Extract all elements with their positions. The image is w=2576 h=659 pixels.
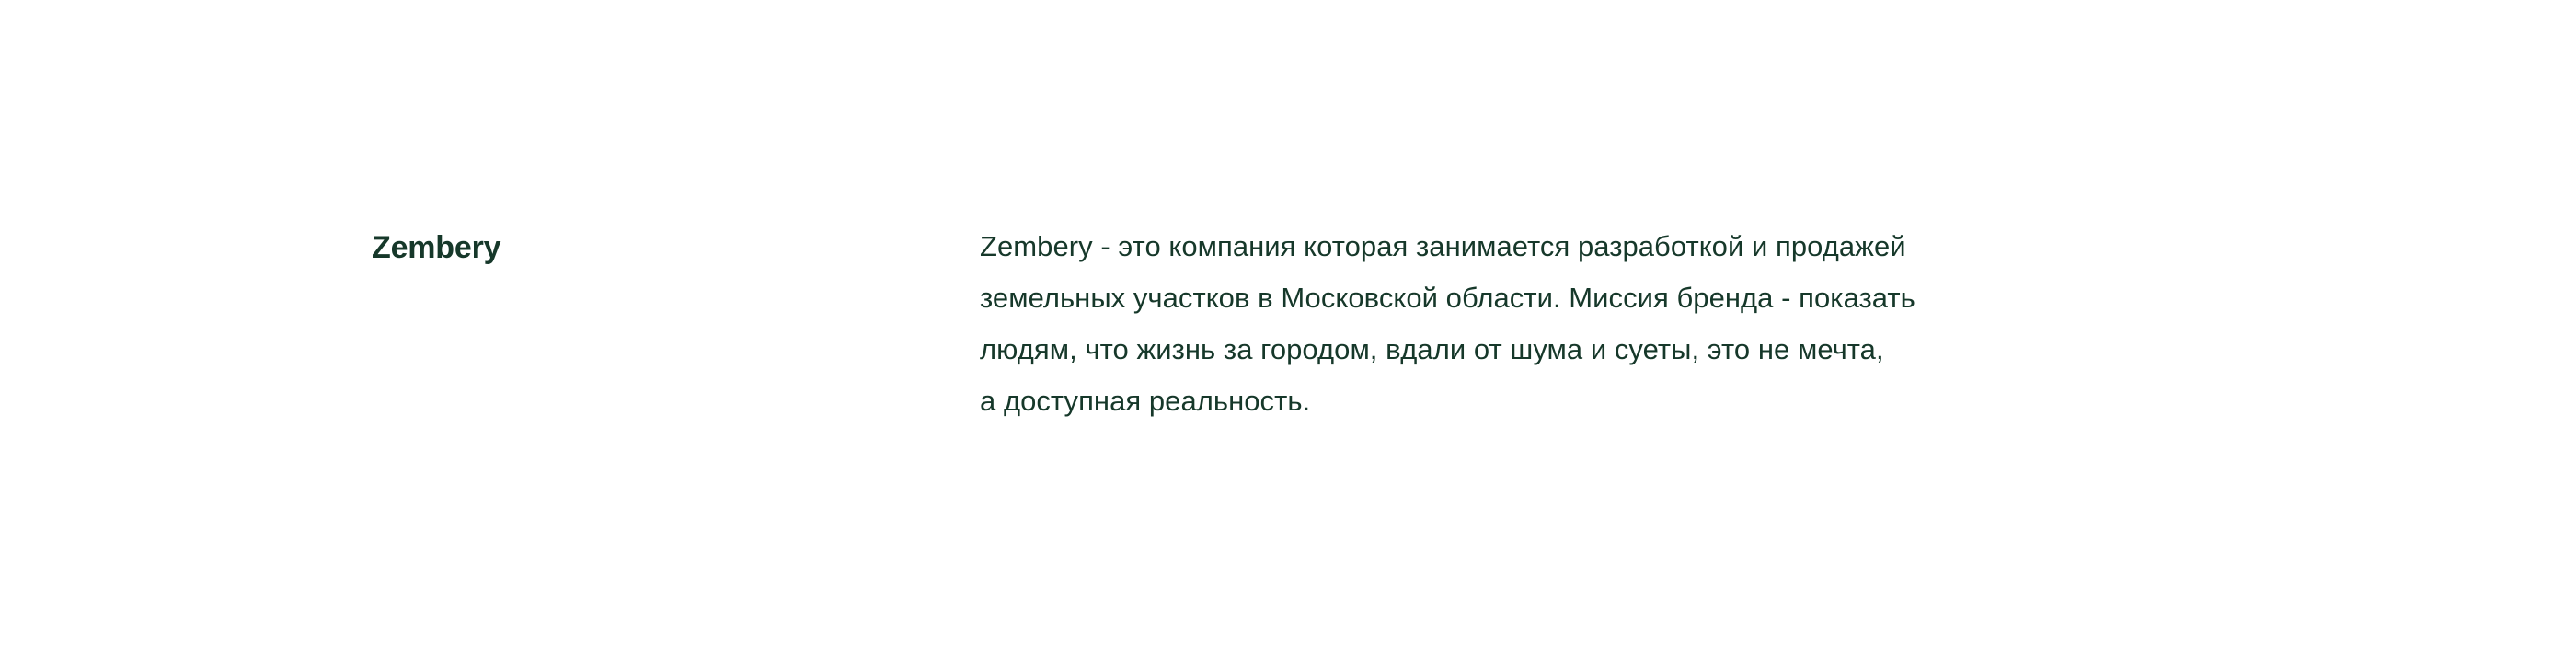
brand-name-heading: Zembery (372, 228, 980, 267)
description-line: Zembery - это компания которая занимаетс… (980, 221, 2231, 272)
description-line: земельных участков в Московской области.… (980, 272, 2231, 324)
heading-column: Zembery (372, 221, 980, 267)
brand-description: Zembery - это компания которая занимаетс… (980, 221, 2231, 427)
description-line: а доступная реальность. (980, 376, 2231, 427)
description-line: людям, что жизнь за городом, вдали от шу… (980, 324, 2231, 376)
page-root: Zembery Zembery - это компания которая з… (0, 0, 2576, 659)
description-column: Zembery - это компания которая занимаетс… (980, 221, 2231, 427)
brand-about-section: Zembery Zembery - это компания которая з… (372, 221, 2231, 427)
